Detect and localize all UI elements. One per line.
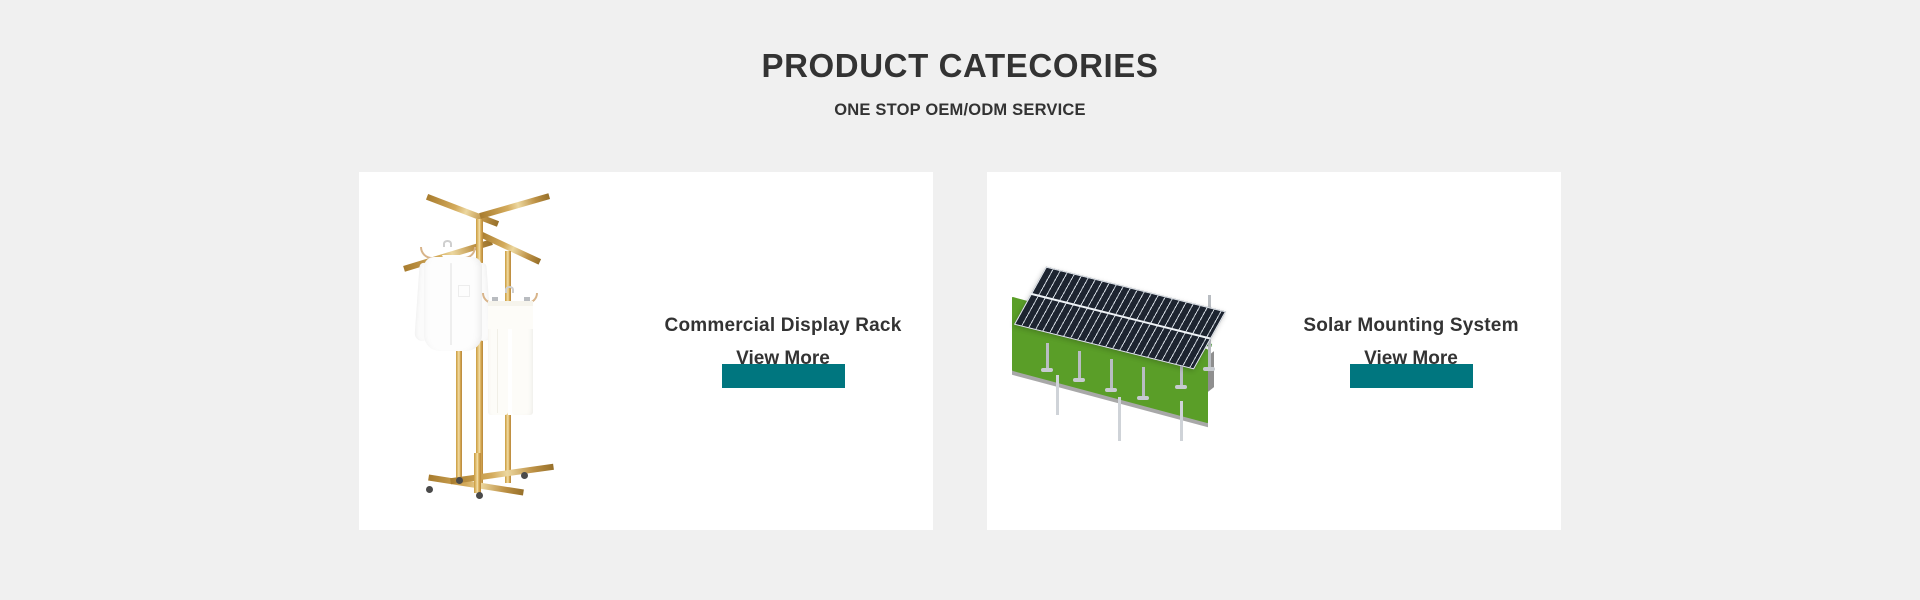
trouser-gap [508, 327, 512, 415]
rack-arm-icon [479, 193, 550, 219]
rack-base-post [474, 453, 481, 493]
support-leg [1142, 367, 1145, 397]
trouser-leg [488, 327, 508, 415]
card-title: Solar Mounting System [1303, 315, 1518, 337]
support-leg [1078, 351, 1081, 379]
view-more-button[interactable]: View More [722, 364, 845, 388]
ground-screw-foot [1073, 378, 1085, 382]
clothing-rack-illustration [404, 201, 604, 501]
foundation-pile [1056, 375, 1059, 415]
ground-screw-foot [1041, 368, 1053, 372]
trouser-crease [497, 329, 498, 413]
card-media-commercial-display-rack [359, 172, 649, 530]
caster-wheel-icon [476, 492, 483, 499]
card-title: Commercial Display Rack [665, 315, 902, 337]
trouser-leg [512, 327, 533, 415]
hanger-hook-icon [443, 240, 452, 247]
ground-screw-foot [1137, 396, 1149, 400]
section-heading-block: PRODUCT CATECORIES ONE STOP OEM/ODM SERV… [0, 0, 1920, 120]
page-title: PRODUCT CATECORIES [0, 47, 1920, 85]
rack-base-rail [450, 464, 554, 484]
solar-mounting-illustration [1008, 251, 1256, 451]
foundation-pile [1180, 401, 1183, 441]
view-more-button[interactable]: View More [1350, 364, 1473, 388]
card-media-solar-mounting-system [987, 172, 1277, 530]
caster-wheel-icon [456, 477, 463, 484]
support-leg [1110, 359, 1113, 389]
caster-wheel-icon [426, 486, 433, 493]
product-categories-section: PRODUCT CATECORIES ONE STOP OEM/ODM SERV… [0, 0, 1920, 600]
hanger-hook-icon [505, 286, 514, 293]
trouser-waistband [488, 301, 533, 306]
support-leg [1046, 343, 1049, 369]
section-subtitle: ONE STOP OEM/ODM SERVICE [0, 101, 1920, 120]
view-more-button-label: View More [1350, 349, 1473, 368]
caster-wheel-icon [521, 472, 528, 479]
shirt-placket [450, 263, 452, 345]
category-card-solar-mounting-system[interactable]: Solar Mounting System View More [987, 172, 1561, 530]
card-body-solar-mounting-system: Solar Mounting System View More [1277, 172, 1561, 530]
ground-screw-foot [1105, 388, 1117, 392]
foundation-pile [1118, 397, 1121, 441]
card-body-commercial-display-rack: Commercial Display Rack View More [649, 172, 933, 530]
view-more-button-label: View More [722, 349, 845, 368]
white-shirt [424, 257, 482, 351]
category-cards-row: Commercial Display Rack View More [0, 172, 1920, 530]
category-card-commercial-display-rack[interactable]: Commercial Display Rack View More [359, 172, 933, 530]
shirt-pocket [458, 285, 470, 297]
ground-screw-foot [1203, 367, 1215, 371]
ground-screw-foot [1175, 385, 1187, 389]
